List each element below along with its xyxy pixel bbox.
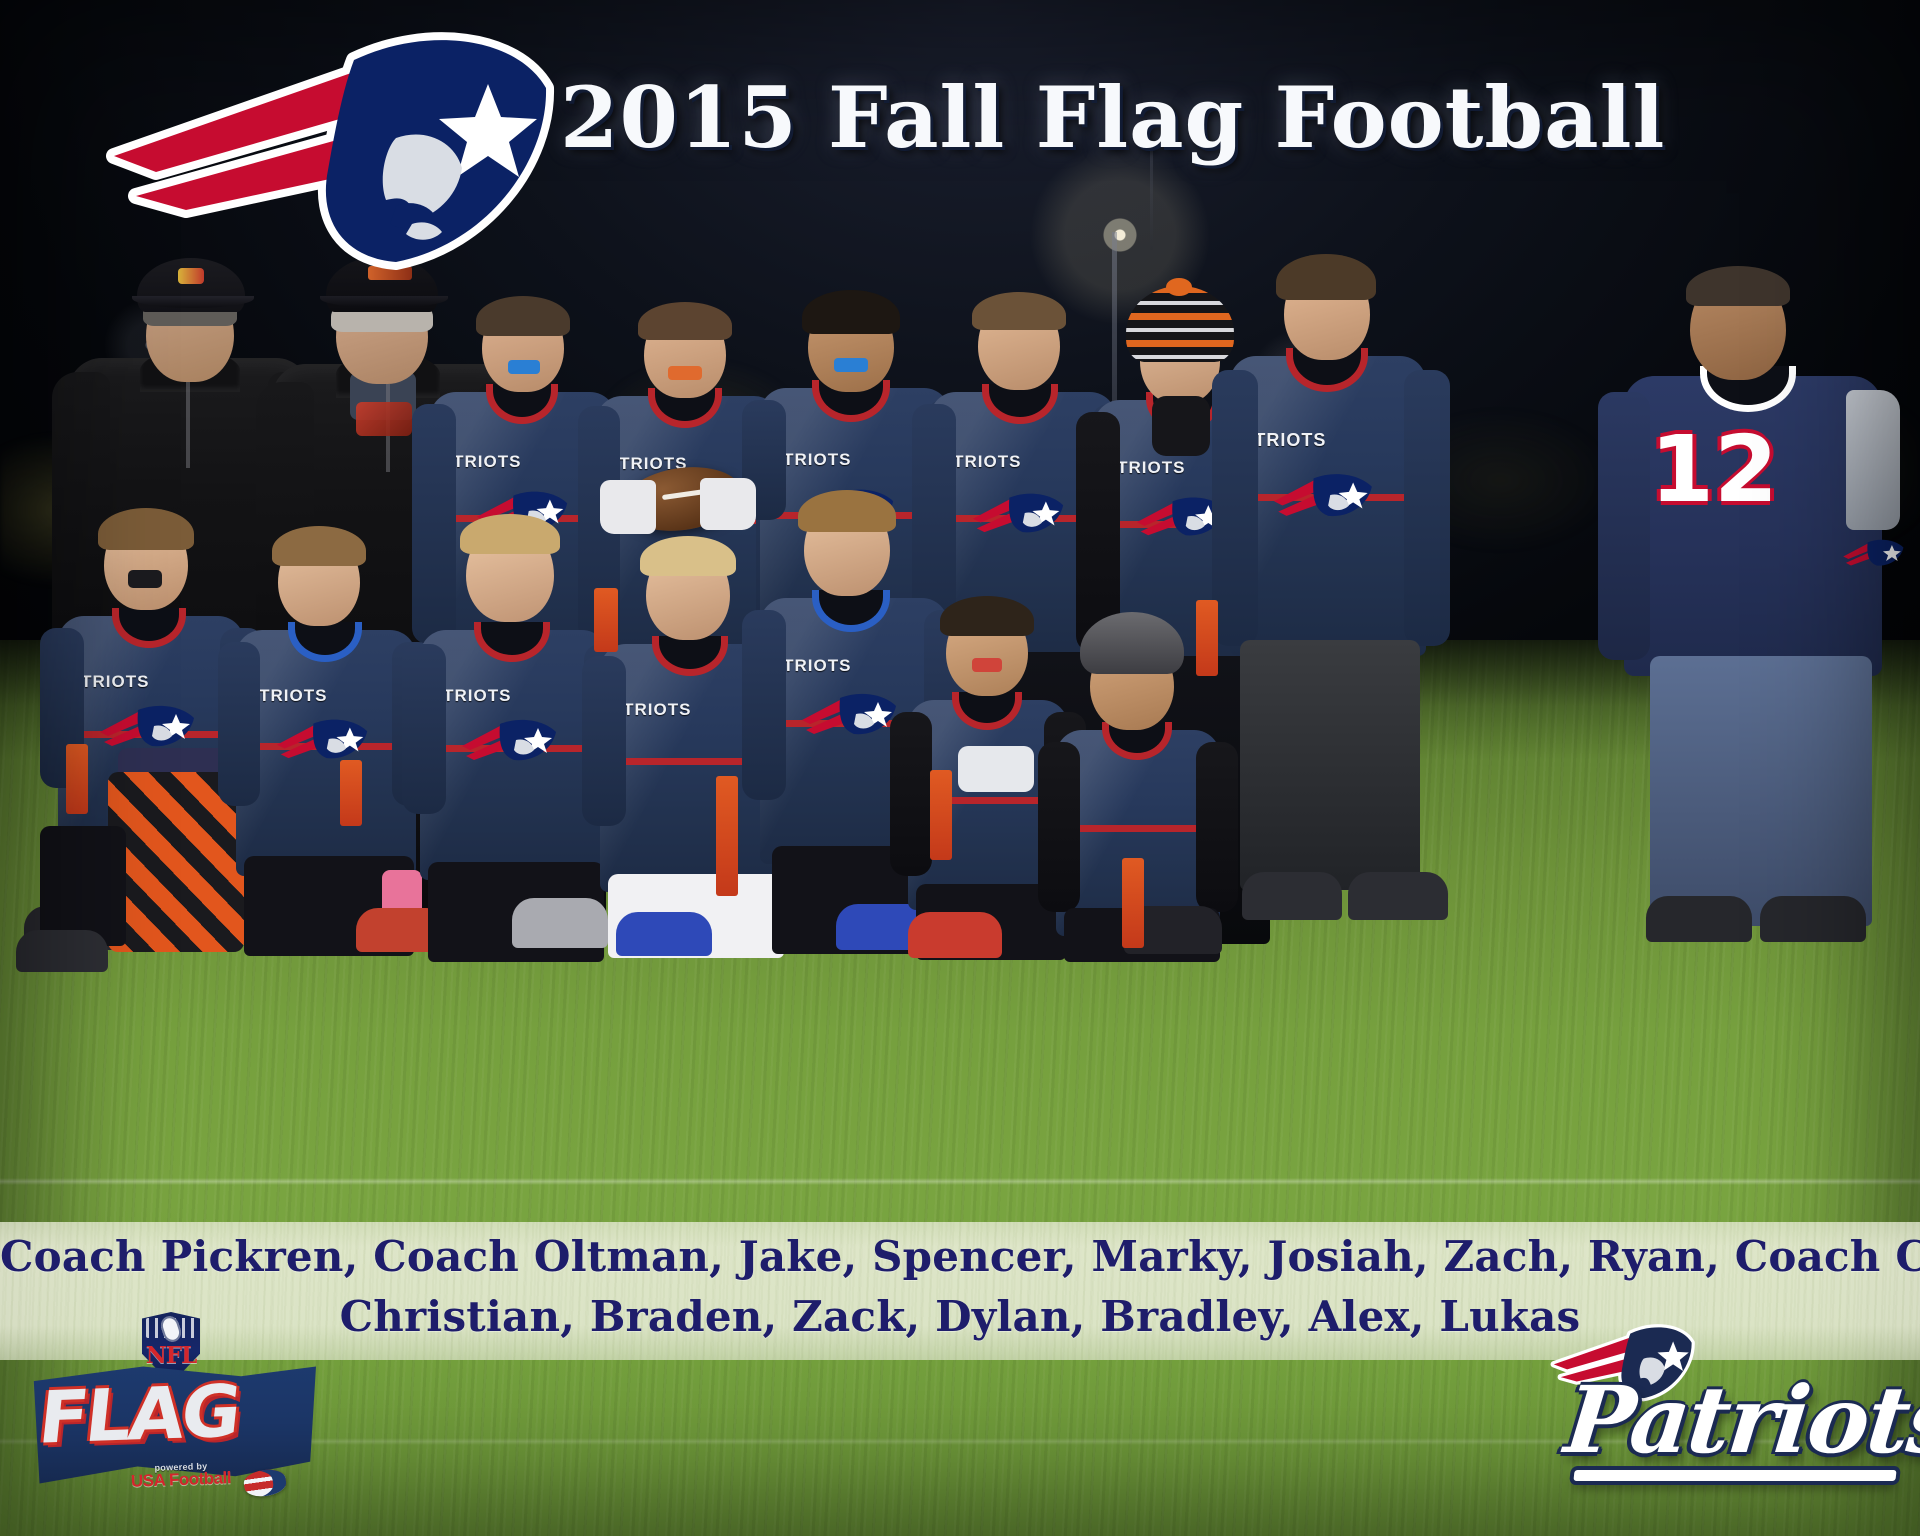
usa-football-wordmark: USA Football xyxy=(116,1468,247,1493)
patriots-logo-icon xyxy=(970,488,1068,536)
flag-belt-icon xyxy=(66,744,88,814)
flag-belt-icon xyxy=(1122,858,1144,948)
roster-line-back-row: Coach Pickren, Coach Oltman, Jake, Spenc… xyxy=(0,1222,1920,1288)
patriots-logo-icon xyxy=(800,688,900,738)
nfl-flag-logo: NFL FLAG powered by USA Football xyxy=(20,1312,320,1522)
mouthguard-icon xyxy=(834,358,868,372)
mouthguard-icon xyxy=(128,570,162,588)
mouthguard-icon xyxy=(508,360,540,374)
mouthguard-icon xyxy=(668,366,702,380)
mouthguard-icon xyxy=(972,658,1002,672)
page-title: 2015 Fall Flag Football xyxy=(560,62,1900,174)
patriots-script-wordmark: Patriots xyxy=(1561,1370,1920,1470)
glove-icon xyxy=(600,480,656,534)
flames-team-patch-icon xyxy=(356,402,412,436)
flag-belt-icon xyxy=(594,588,618,652)
patriots-script-logo: Patriots xyxy=(1548,1318,1916,1524)
glove-icon xyxy=(700,478,756,530)
patriots-logo-icon xyxy=(274,714,372,762)
flag-wordmark: FLAG xyxy=(35,1369,314,1456)
patriots-logo-icon xyxy=(460,714,560,764)
patriots-logo-icon xyxy=(96,20,566,290)
jersey-number: 12 xyxy=(1624,420,1804,520)
jersey-sleeve-stripe xyxy=(1846,390,1900,530)
patriots-logo-icon xyxy=(98,700,198,750)
nfl-shield-wordmark: NFL xyxy=(142,1342,200,1369)
flag-belt-icon xyxy=(716,776,738,896)
flag-belt-icon xyxy=(1196,600,1218,676)
team-photo-poster: PATRIOTS PATRIOTS xyxy=(0,0,1920,1536)
glove-icon xyxy=(958,746,1034,792)
patriots-logo-icon xyxy=(1272,468,1376,520)
flag-belt-icon xyxy=(930,770,952,860)
patriots-script-underline xyxy=(1573,1470,1896,1481)
neck-gaiter xyxy=(1152,396,1210,456)
field-yard-line xyxy=(0,1178,1920,1185)
flag-belt-icon xyxy=(340,760,362,826)
patriots-sleeve-logo-icon xyxy=(1842,536,1906,568)
